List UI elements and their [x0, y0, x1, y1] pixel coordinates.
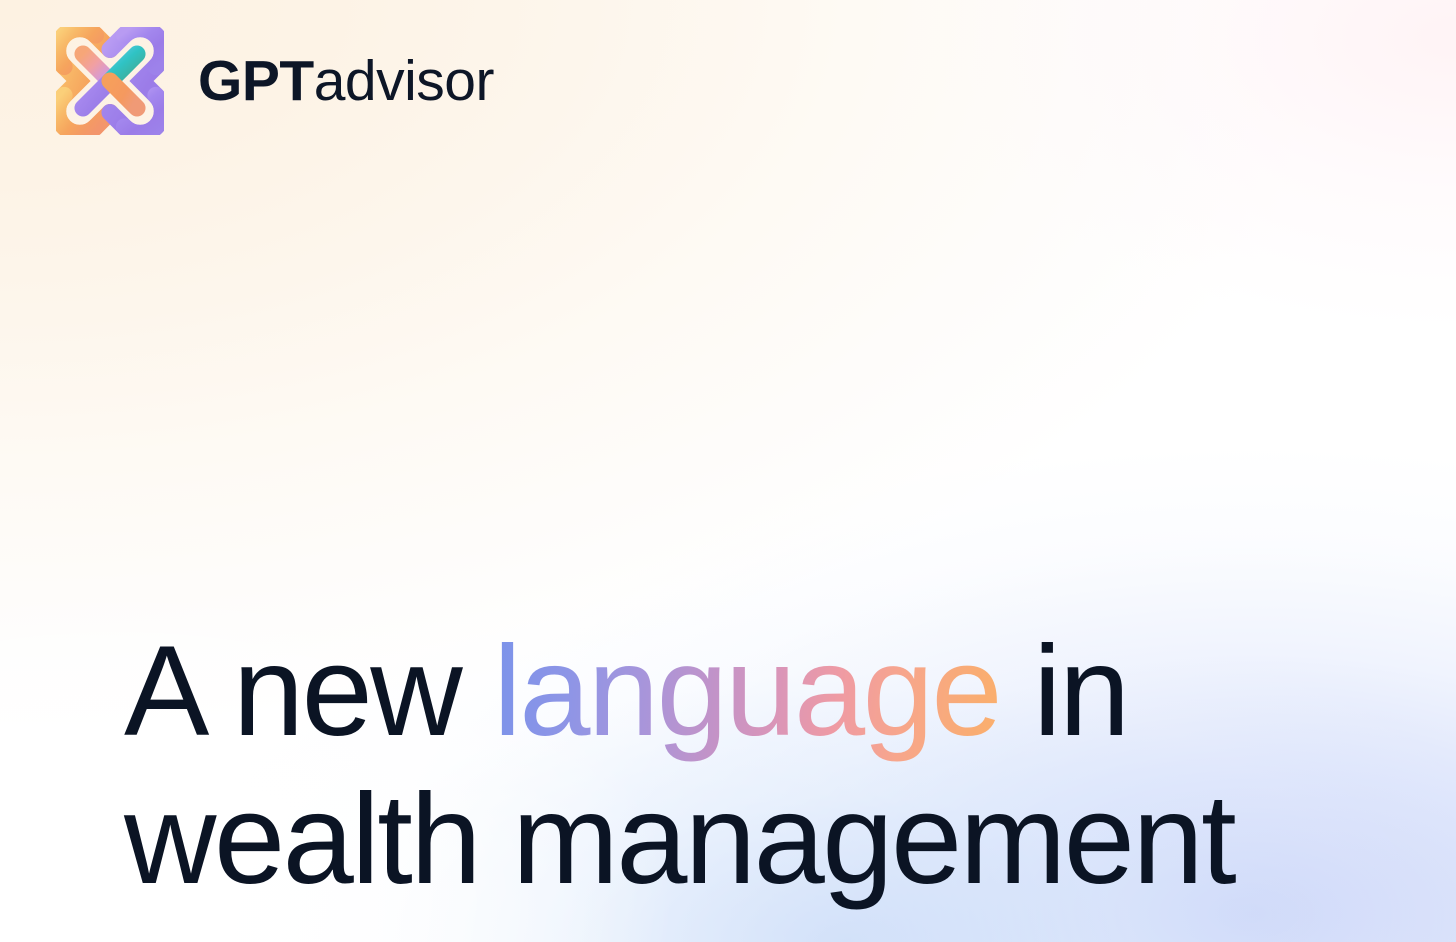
headline-highlight-word: language [493, 620, 1000, 763]
brand-lockup[interactable]: GPTadvisor [56, 26, 494, 136]
hero-slide: GPTadvisor A new language in wealth mana… [0, 0, 1456, 942]
brand-name-bold: GPT [198, 53, 314, 110]
headline-line-2: wealth management [124, 766, 1374, 914]
hero-headline: A new language in wealth management [124, 618, 1374, 915]
headline-line-1: A new language in [124, 618, 1374, 766]
interlocking-knot-logo-icon [56, 27, 164, 135]
headline-text-a: A new [124, 620, 493, 763]
headline-text-b: in [1000, 620, 1128, 763]
brand-wordmark: GPTadvisor [198, 53, 494, 110]
brand-name-regular: advisor [314, 53, 494, 110]
